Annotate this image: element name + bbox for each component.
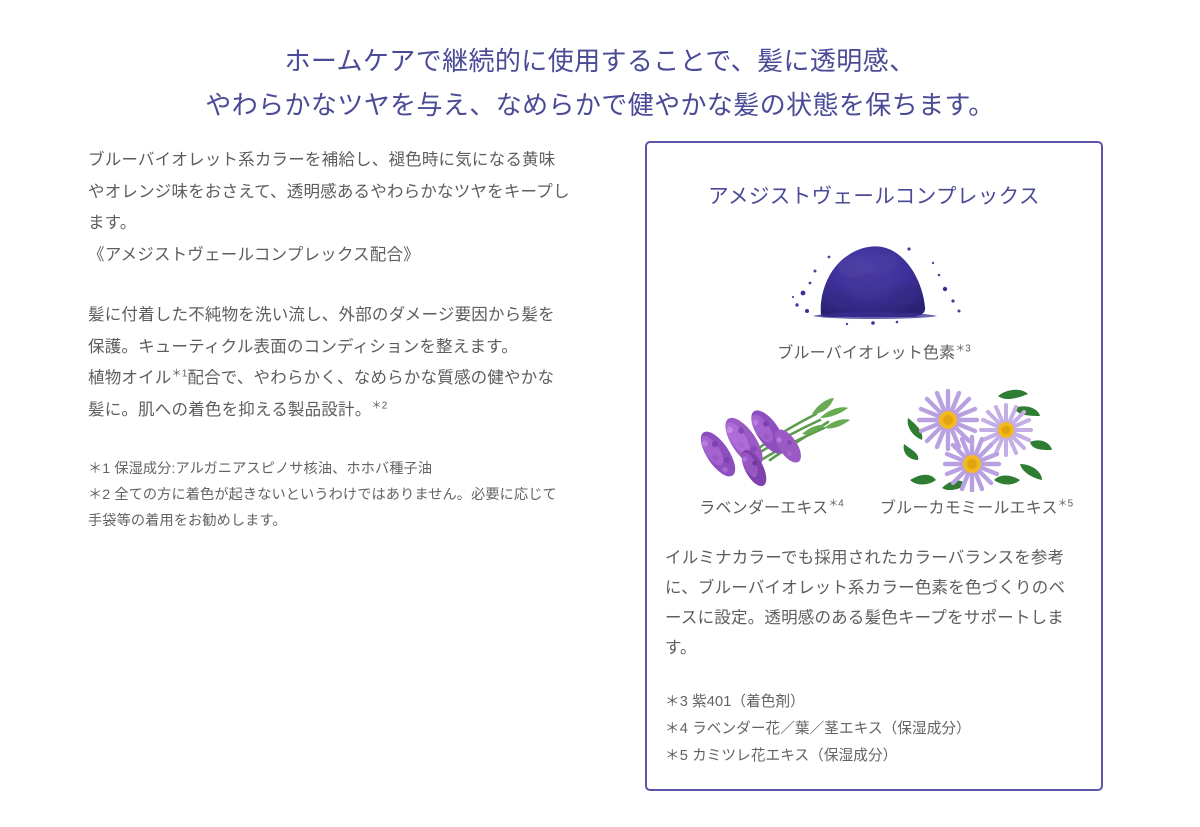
pigment-caption: ブルーバイオレット色素＊3 (647, 341, 1101, 366)
blue-chamomile-flowers-image (874, 382, 1079, 492)
ingredient-lavender: ラベンダーエキス＊4 (669, 382, 874, 521)
footnote-marker-2: ＊2 (371, 400, 387, 411)
paragraph-plant-oil: 植物オイル＊1配合で、やわらかく、なめらかな質感の健やかな髪に。肌への着色を抑え… (88, 363, 570, 426)
blue-violet-pigment-powder-image (647, 223, 1101, 333)
pigment-caption-text: ブルーバイオレット色素 (777, 345, 955, 362)
panel-title: アメジストヴェールコンプレックス (647, 143, 1101, 209)
lavender-caption: ラベンダーエキス＊4 (669, 496, 874, 521)
paragraph-cleanse-protect: 髪に付着した不純物を洗い流し、外部のダメージ要因から髪を保護。キューティクル表面… (88, 300, 570, 363)
lavender-caption-text: ラベンダーエキス (699, 500, 828, 517)
footnote-marker-1: ＊1 (172, 369, 188, 380)
left-footnotes: ＊1 保湿成分:アルガニアスピノサ核油、ホホバ種子油 ＊2 全ての方に着色が起き… (88, 456, 570, 534)
footnote-marker-3: ＊3 (955, 344, 970, 355)
footnote-marker-5: ＊5 (1058, 499, 1073, 510)
panel-footnotes: ＊3 紫401（着色剤） ＊4 ラベンダー花／葉／茎エキス（保湿成分） ＊5 カ… (665, 689, 1081, 770)
amethyst-veil-complex-panel: アメジストヴェールコンプレックス (645, 141, 1103, 791)
ingredient-blue-chamomile: ブルーカモミールエキス＊5 (874, 382, 1079, 521)
chamomile-caption-text: ブルーカモミールエキス (880, 500, 1058, 517)
left-text-column: ブルーバイオレット系カラーを補給し、褪色時に気になる黄味やオレンジ味をおさえて、… (88, 145, 570, 534)
lavender-bundle-image (669, 382, 874, 492)
page-headline: ホームケアで継続的に使用することで、髪に透明感、 やわらかなツヤを与え、なめらか… (0, 39, 1200, 127)
panel-body-text: イルミナカラーでも採用されたカラーバランスを参考に、ブルーバイオレット系カラー色… (665, 543, 1081, 663)
pigment-block: ブルーバイオレット色素＊3 (647, 223, 1101, 366)
plant-oil-text-pre: 植物オイル (88, 369, 172, 387)
ingredient-row: ラベンダーエキス＊4 (647, 382, 1101, 521)
footnote-marker-4: ＊4 (828, 499, 843, 510)
paragraph-color-supply: ブルーバイオレット系カラーを補給し、褪色時に気になる黄味やオレンジ味をおさえて、… (88, 145, 570, 271)
chamomile-caption: ブルーカモミールエキス＊5 (874, 496, 1079, 521)
